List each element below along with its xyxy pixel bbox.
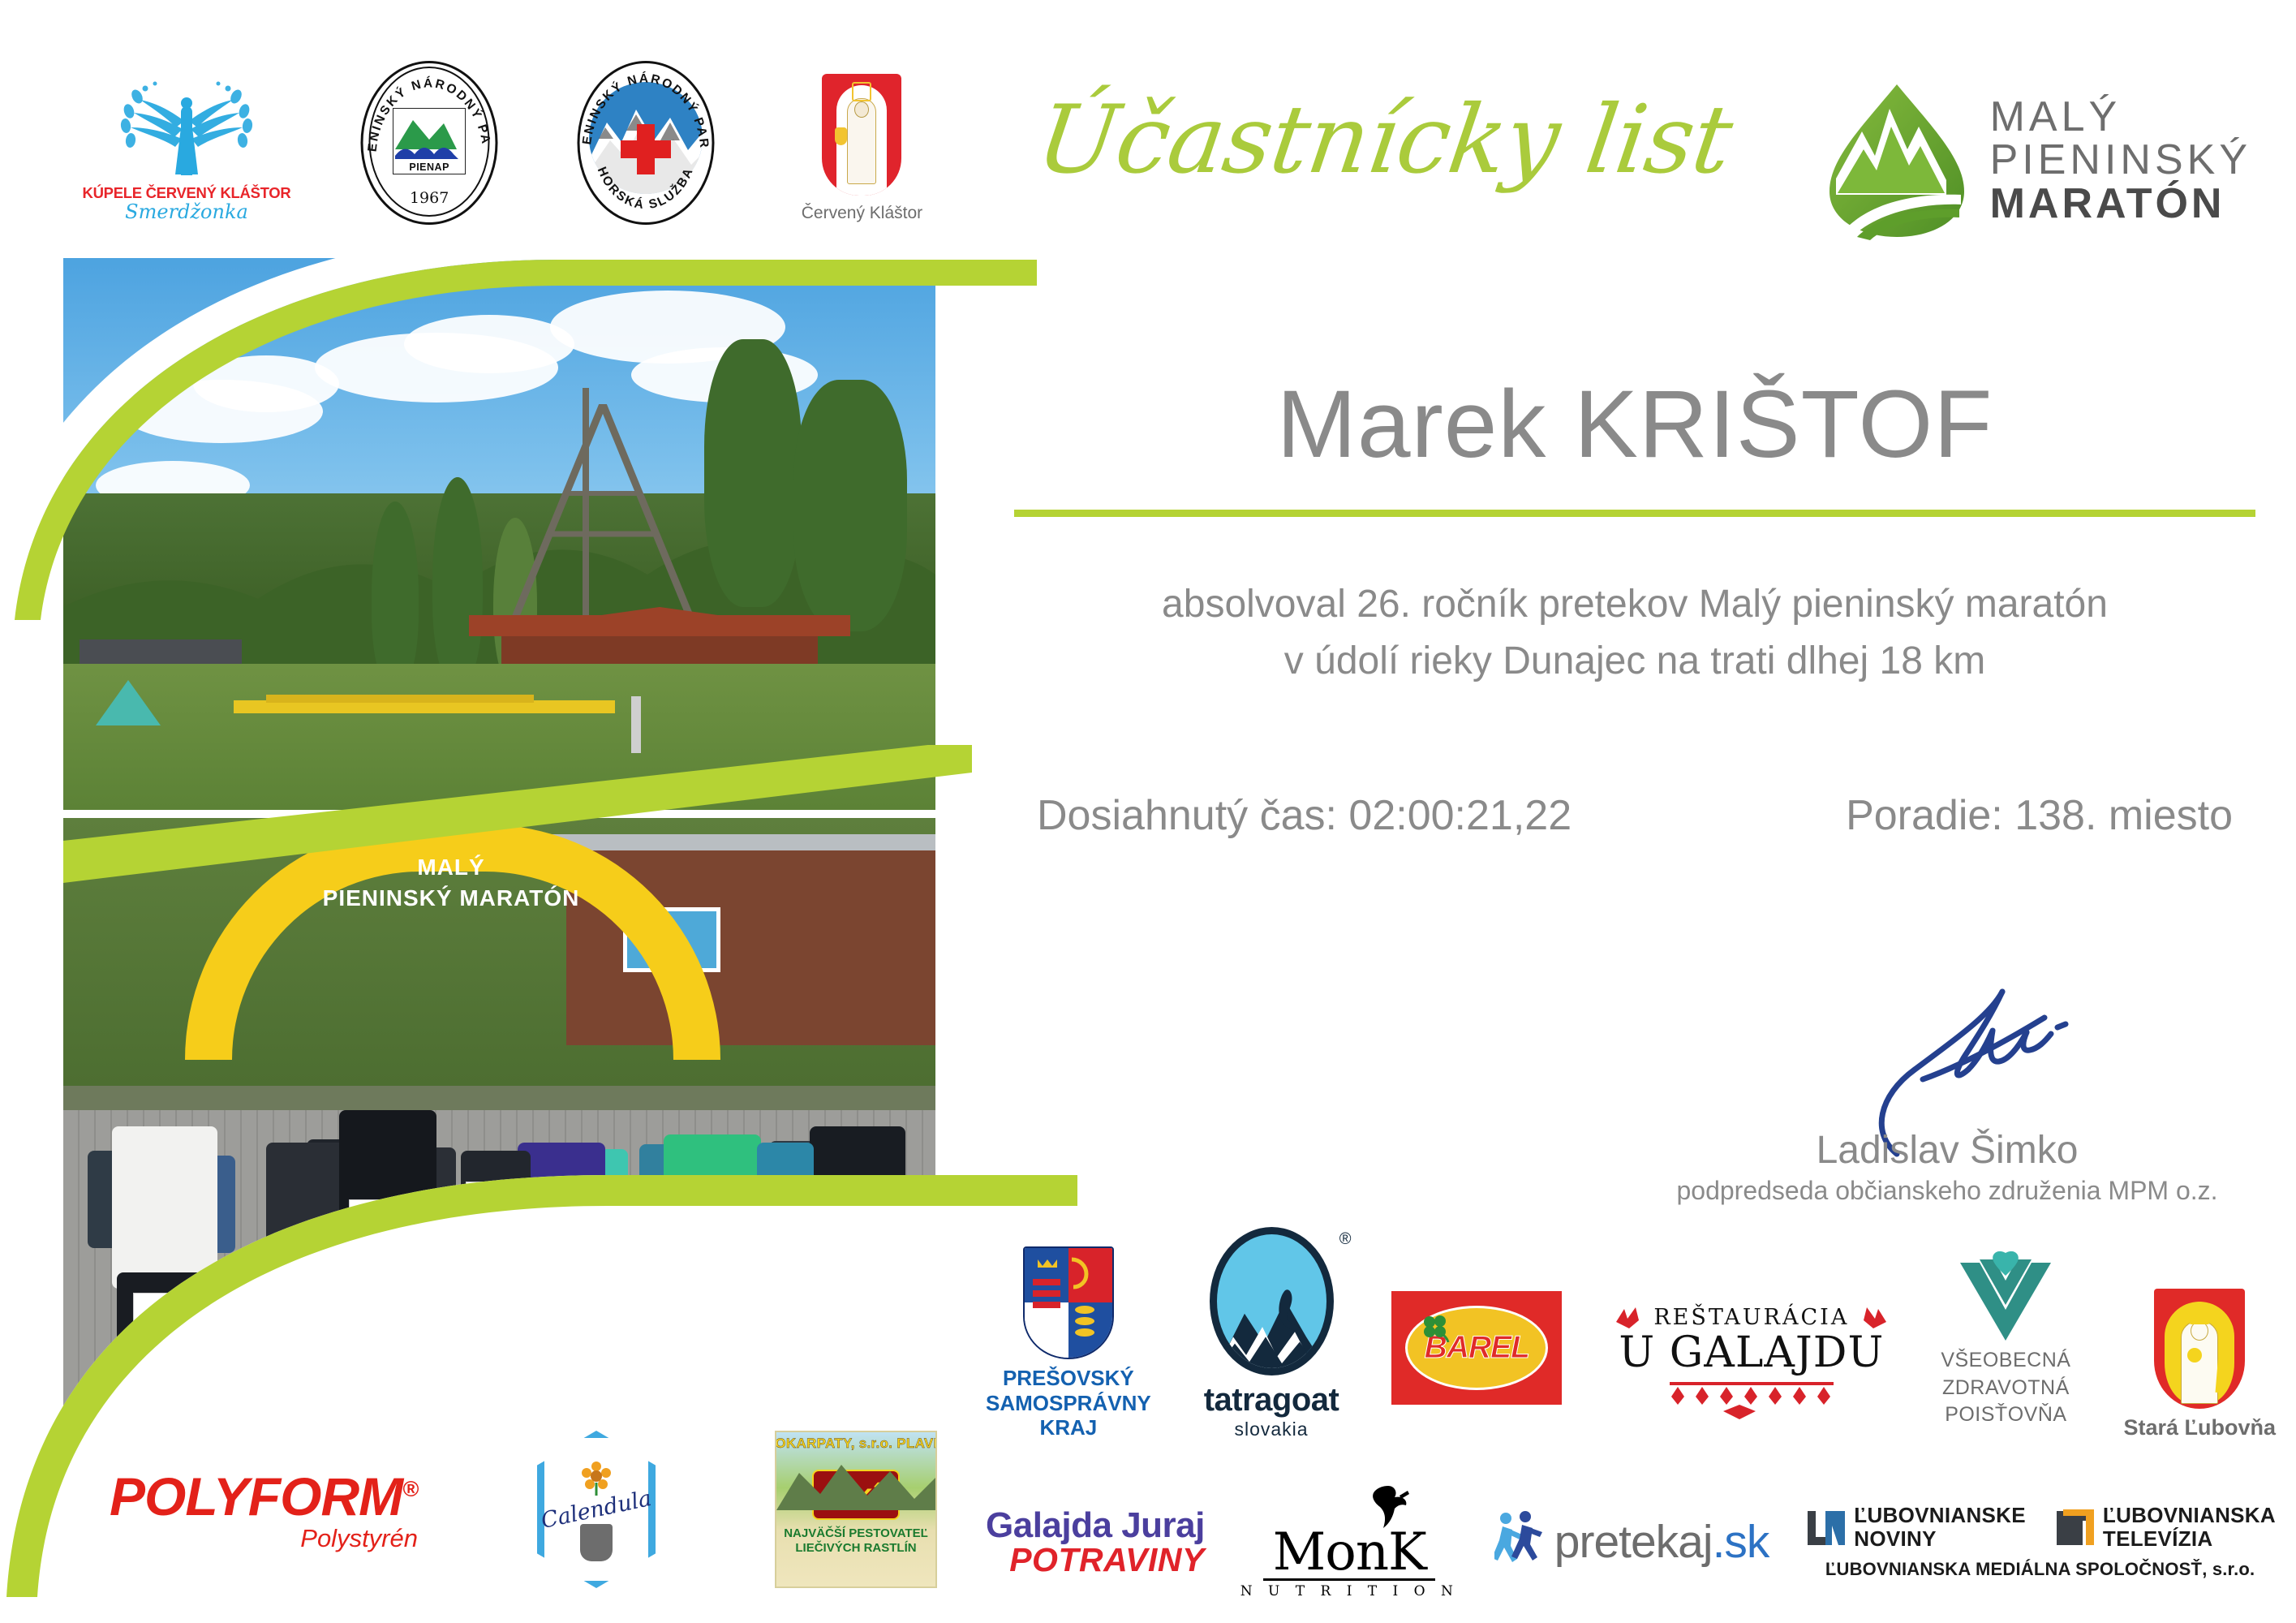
sponsor-tatragoat: ® tatragoat slovakia (1204, 1227, 1339, 1440)
pretekaj-wordmark: pretekaj.sk (1554, 1515, 1769, 1569)
polyform-subtitle: Polystyrén (300, 1524, 418, 1553)
bib-number: 147 (527, 1248, 591, 1292)
ug-line1: REŠTAURÁCIA (1653, 1305, 1849, 1330)
logo-horska-sluzba: PIENINSKÝ NÁRODNÝ PARK HORSKÁ SLUŽBA (574, 61, 716, 223)
certificate-body: absolvoval 26. ročník pretekov Malý pien… (1014, 576, 2255, 689)
sponsor-monk-nutrition: MonK N U T R I T I O N (1240, 1484, 1459, 1600)
signatory-role: podpredseda občianskeho združenia MPM o.… (1639, 1176, 2255, 1206)
ln-line2: NOVINY (1854, 1527, 2026, 1551)
two-runners-icon (1494, 1510, 1546, 1573)
logo-pienap: PIENINSKÝ NÁRODNÝ PARK PIENAP 1967 (359, 61, 501, 223)
sponsor-stara-lubovna: Stará Ľubovňa (2123, 1289, 2276, 1440)
psk-coat-of-arms-icon (1023, 1246, 1114, 1359)
pretekaj-suffix: .sk (1713, 1516, 1769, 1568)
ln-mark-icon (1804, 1508, 1847, 1547)
sponsor-row-primary: PREŠOVSKÝ SAMOSPRÁVNY KRAJ ® tatragoat s (986, 1238, 2276, 1440)
pienap-year: 1967 (359, 189, 501, 207)
arch-line1: MALÝ (289, 852, 613, 883)
psk-line2: SAMOSPRÁVNY (986, 1391, 1151, 1416)
sponsor-agrokarpaty-elixir: AGROKARPATY, s.r.o. PLAVNICA elixír NAJV… (775, 1431, 937, 1588)
mountain-rescue-seal-icon: PIENINSKÝ NÁRODNÝ PARK HORSKÁ SLUŽBA (574, 61, 716, 223)
arch-line2: PIENINSKÝ MARATÓN (289, 883, 613, 914)
ug-line2: U GALAJDU (1619, 1328, 1884, 1377)
cerveny-klastor-label: Červený Kláštor (802, 204, 922, 223)
coat-of-arms-icon (822, 74, 901, 196)
page-title: Účastnícky list (1031, 85, 1739, 195)
psk-line1: PREŠOVSKÝ (986, 1366, 1151, 1391)
bib-number: 31 (677, 1274, 733, 1315)
bib-number: 209 (133, 1293, 200, 1338)
stara-lubovna-label: Stará Ľubovňa (2123, 1415, 2276, 1440)
sponsor-lubovnianska-medialna-spolocnost: ĽUBOVNIANSKE NOVINY ĽUBOVNIANSKA TELEVÍZ… (1804, 1504, 2276, 1580)
ln-line1: ĽUBOVNIANSKE (1854, 1504, 2026, 1527)
finish-time: Dosiahnutý čas: 02:00:21,22 (1037, 791, 1572, 840)
mpm-line2: PIENINSKÝ (1990, 139, 2251, 182)
lt-line2: TELEVÍZIA (2103, 1527, 2276, 1551)
placement: Poradie: 138. miesto (1846, 791, 2233, 840)
barel-clover-icon (1421, 1313, 1450, 1342)
folk-ornament-icon (1859, 1306, 1888, 1330)
vszp-line1: VŠEOBECNÁ (1941, 1347, 2070, 1375)
bib-number: 74 (276, 1248, 331, 1287)
barel-logo: BAREL (1391, 1291, 1562, 1405)
elixir-bottom2: LIEČIVÝCH RASTLÍN (784, 1541, 928, 1556)
sponsor-barel: BAREL (1391, 1291, 1562, 1405)
vszp-line2: ZDRAVOTNÁ (1941, 1375, 2070, 1402)
bib-number: 207 (761, 1199, 810, 1233)
divider-rule (1014, 510, 2255, 517)
lubovnianske-noviny: ĽUBOVNIANSKE NOVINY (1804, 1504, 2026, 1551)
bib-number: 192 (466, 1182, 516, 1217)
galajda-line2: POTRAVINY (1009, 1541, 1205, 1579)
results-row: Dosiahnutý čas: 02:00:21,22 Poradie: 138… (1014, 791, 2255, 840)
body-line-2: v údolí rieky Dunajec na trati dlhej 18 … (1014, 633, 2255, 690)
lubovnianska-televizia: ĽUBOVNIANSKA TELEVÍZIA (2053, 1504, 2276, 1551)
sponsor-vszp: VŠEOBECNÁ ZDRAVOTNÁ POISŤOVŇA (1941, 1251, 2070, 1429)
vszp-label: VŠEOBECNÁ ZDRAVOTNÁ POISŤOVŇA (1941, 1347, 2070, 1429)
elixir-top: AGROKARPATY, s.r.o. PLAVNICA (775, 1436, 937, 1452)
tatragoat-name: tatragoat (1204, 1382, 1339, 1419)
marigold-mortar-icon: Calendula (537, 1431, 656, 1588)
polyform-title: POLYFORM (110, 1466, 402, 1526)
logo-kupele-cerveny-klastor: KÚPELE ČERVENÝ KLÁŠTOR Smerdžonka (89, 61, 284, 223)
body-line-1: absolvoval 26. ročník pretekov Malý pien… (1014, 576, 2255, 633)
tatragoat-sub: slovakia (1234, 1419, 1308, 1440)
event-logo: MALÝ PIENINSKÝ MARATÓN (1825, 81, 2251, 240)
polyform-trademark: ® (402, 1477, 418, 1501)
bib-number: 249 (349, 1199, 412, 1243)
signature-block: Ladislav Šimko podpredseda občianskeho z… (1639, 998, 2255, 1206)
elixir-bottom1: NAJVÄČŠÍ PESTOVATEĽ (784, 1526, 928, 1541)
sponsor-row-secondary: Galajda Juraj POTRAVINY MonK N U T R I T… (986, 1477, 2276, 1607)
sponsor-calendula: Calendula (537, 1431, 656, 1588)
psk-line3: KRAJ (986, 1415, 1151, 1440)
kupele-subtitle: Smerdžonka (125, 200, 248, 223)
photo-amphitheatre (63, 258, 935, 810)
logo-cerveny-klastor: Červený Kláštor (791, 61, 933, 223)
photo-race-start: MALÝ PIENINSKÝ MARATÓN (63, 818, 935, 1435)
sponsor-polyform: POLYFORM® Polystyrén (110, 1466, 418, 1553)
elixir-label: AGROKARPATY, s.r.o. PLAVNICA elixír NAJV… (775, 1431, 937, 1588)
vszp-line3: POISŤOVŇA (1941, 1401, 2070, 1429)
psk-label: PREŠOVSKÝ SAMOSPRÁVNY KRAJ (986, 1366, 1151, 1440)
water-angel-icon (93, 79, 280, 183)
mpm-droplet-icon (1825, 81, 1969, 240)
mpm-line1: MALÝ (1990, 96, 2251, 139)
photo-collage: MALÝ PIENINSKÝ MARATÓN (63, 258, 935, 1435)
sponsor-pretekaj-sk: pretekaj.sk (1494, 1510, 1769, 1573)
monk-subtitle: N U T R I T I O N (1240, 1583, 1459, 1599)
lt-line1: ĽUBOVNIANSKA (2103, 1504, 2276, 1527)
recipient-name: Marek KRIŠTOF (1014, 369, 2255, 480)
polyform-wordmark: POLYFORM® (110, 1466, 418, 1527)
monk-wordmark: MonK (1273, 1528, 1426, 1578)
pienap-inner-label: PIENAP (393, 161, 465, 173)
bib-number: 234 (823, 1240, 886, 1284)
pienap-seal-icon: PIENINSKÝ NÁRODNÝ PARK PIENAP 1967 (359, 61, 501, 223)
svg-text:PIENINSKÝ NÁRODNÝ PARK: PIENINSKÝ NÁRODNÝ PARK (574, 61, 712, 150)
pretekaj-title: pretekaj (1554, 1516, 1713, 1568)
bishop-coat-of-arms-icon (2154, 1289, 2245, 1409)
kupele-name: KÚPELE ČERVENÝ KLÁŠTOR (83, 184, 291, 202)
media-company-footer: ĽUBOVNIANSKA MEDIÁLNA SPOLOČNOSŤ, s.r.o. (1825, 1559, 2255, 1580)
sponsor-row-bottom-left: POLYFORM® Polystyrén Calendula (110, 1428, 937, 1591)
galajda-line1: Galajda Juraj (986, 1505, 1205, 1546)
start-arch: MALÝ PIENINSKÝ MARATÓN (185, 824, 720, 1060)
lt-mark-icon (2053, 1508, 2096, 1547)
sponsor-u-galajdu: REŠTAURÁCIA U GALAJDU (1615, 1305, 1888, 1419)
vszp-v-icon (1957, 1251, 2054, 1341)
sponsor-galajda-juraj: Galajda Juraj POTRAVINY (986, 1505, 1205, 1579)
certificate-page: KÚPELE ČERVENÝ KLÁŠTOR Smerdžonka PIENIN… (0, 0, 2296, 1623)
top-partner-logos: KÚPELE ČERVENÝ KLÁŠTOR Smerdžonka PIENIN… (89, 61, 933, 223)
mpm-line3: MARATÓN (1990, 183, 2251, 226)
tatragoat-chamois-icon (1210, 1227, 1334, 1375)
svg-text:HORSKÁ SLUŽBA: HORSKÁ SLUŽBA (595, 165, 697, 212)
sponsor-presovsky-samospravny-kraj: PREŠOVSKÝ SAMOSPRÁVNY KRAJ (986, 1246, 1151, 1440)
folk-ornament-icon (1615, 1306, 1644, 1330)
signatory-name: Ladislav Šimko (1639, 1128, 2255, 1173)
folk-ornament-icon (1666, 1379, 1837, 1419)
